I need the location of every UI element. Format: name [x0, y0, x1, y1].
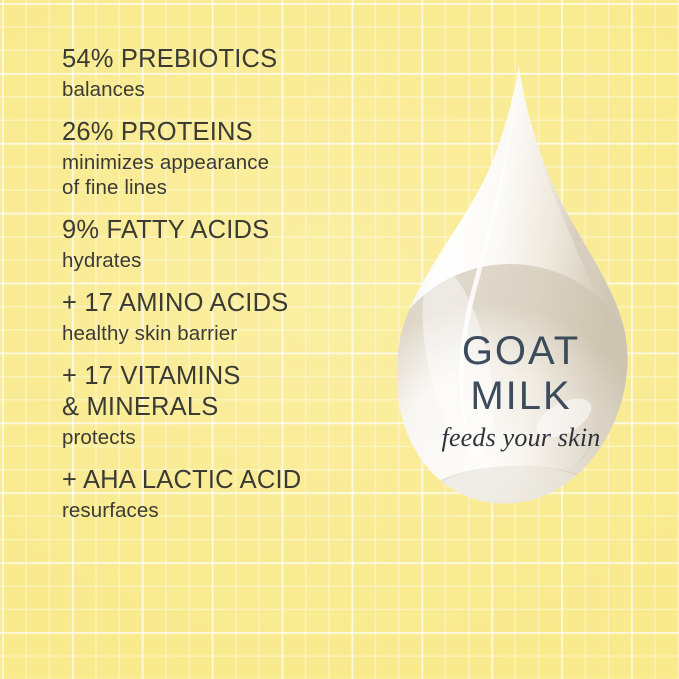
ingredient-item-proteins: 26% PROTEINS minimizes appearance of fin… — [62, 117, 382, 200]
ingredient-item-vitamins-minerals: + 17 VITAMINS & MINERALS protects — [62, 361, 382, 450]
droplet-bottom-glow — [438, 466, 594, 518]
ingredient-subtext: minimizes appearance of fine lines — [62, 150, 382, 200]
ingredient-item-amino-acids: + 17 AMINO ACIDS healthy skin barrier — [62, 288, 382, 346]
ingredient-subtext: resurfaces — [62, 498, 382, 523]
ingredient-headline: + 17 AMINO ACIDS — [62, 288, 382, 319]
ingredient-subtext: healthy skin barrier — [62, 321, 382, 346]
ingredient-item-aha-lactic-acid: + AHA LACTIC ACID resurfaces — [62, 465, 382, 523]
ingredient-subtext: protects — [62, 425, 382, 450]
ingredient-item-prebiotics: 54% PREBIOTICS balances — [62, 44, 382, 102]
ingredient-headline: + AHA LACTIC ACID — [62, 465, 382, 496]
ingredient-list: 54% PREBIOTICS balances 26% PROTEINS min… — [62, 44, 382, 534]
goat-milk-infographic: 54% PREBIOTICS balances 26% PROTEINS min… — [0, 0, 679, 679]
ingredient-headline: 26% PROTEINS — [62, 117, 382, 148]
milk-droplet-icon — [398, 62, 644, 552]
ingredient-item-fatty-acids: 9% FATTY ACIDS hydrates — [62, 215, 382, 273]
ingredient-headline: + 17 VITAMINS & MINERALS — [62, 361, 382, 423]
ingredient-subtext: balances — [62, 77, 382, 102]
ingredient-headline: 9% FATTY ACIDS — [62, 215, 382, 246]
ingredient-subtext: hydrates — [62, 248, 382, 273]
ingredient-headline: 54% PREBIOTICS — [62, 44, 382, 75]
